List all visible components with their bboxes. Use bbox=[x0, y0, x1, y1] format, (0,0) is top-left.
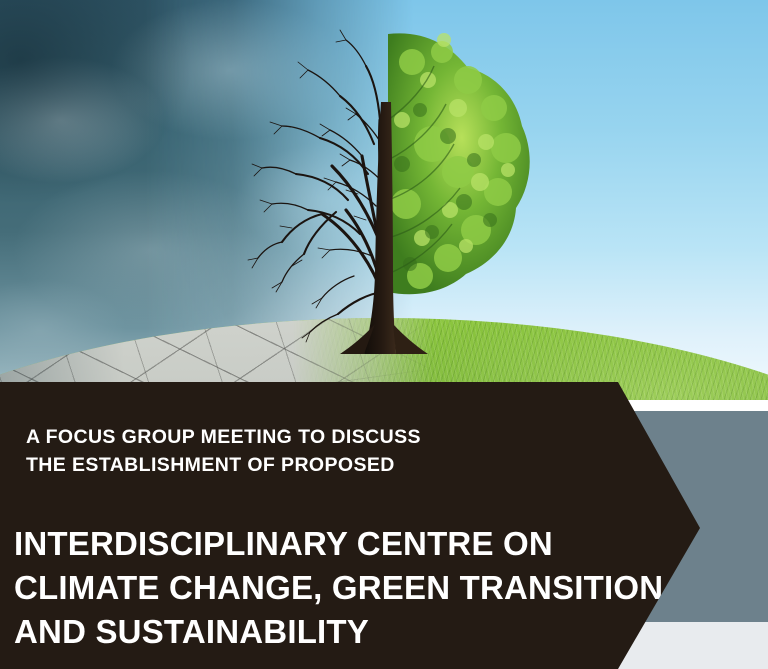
tree-trunk bbox=[364, 102, 396, 354]
headline-line-2: CLIMATE CHANGE, GREEN TRANSITION bbox=[14, 566, 663, 610]
hero-photo bbox=[0, 0, 768, 400]
kicker-text: A FOCUS GROUP MEETING TO DISCUSS THE EST… bbox=[26, 424, 421, 479]
headline-line-3: AND SUSTAINABILITY bbox=[14, 610, 663, 654]
poster-canvas: A FOCUS GROUP MEETING TO DISCUSS THE EST… bbox=[0, 0, 768, 669]
page-title: INTERDISCIPLINARY CENTRE ON CLIMATE CHAN… bbox=[14, 522, 663, 655]
split-tree-icon bbox=[236, 24, 536, 364]
kicker-line-1: A FOCUS GROUP MEETING TO DISCUSS bbox=[26, 424, 421, 452]
title-banner: A FOCUS GROUP MEETING TO DISCUSS THE EST… bbox=[0, 382, 700, 669]
headline-line-1: INTERDISCIPLINARY CENTRE ON bbox=[14, 522, 663, 566]
kicker-line-2: THE ESTABLISHMENT OF PROPOSED bbox=[26, 452, 421, 480]
